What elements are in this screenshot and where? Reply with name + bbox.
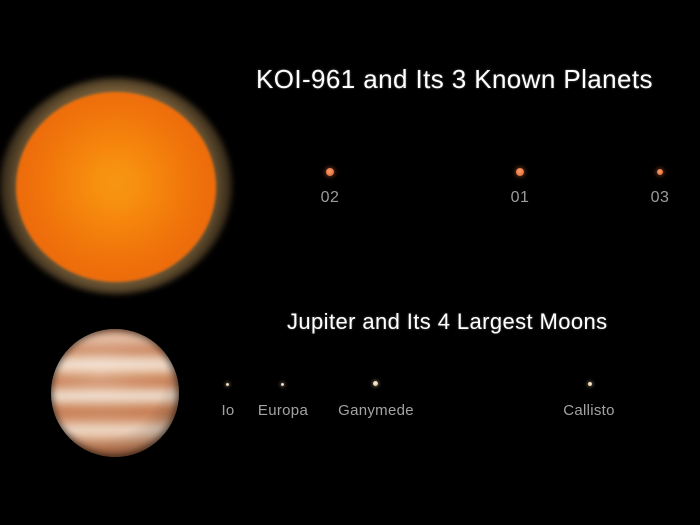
planet-dot-01: [516, 168, 524, 176]
moon-dot-ganymede: [373, 381, 378, 386]
figure-canvas: KOI-961 and Its 3 Known Planets 02 01 03…: [0, 0, 700, 525]
jupiter-section-title: Jupiter and Its 4 Largest Moons: [287, 309, 608, 335]
planet-label-03: 03: [651, 189, 670, 207]
moon-label-ganymede: Ganymede: [338, 402, 414, 419]
moon-dot-io: [226, 383, 229, 386]
planet-label-02: 02: [321, 189, 340, 207]
planet-label-01: 01: [511, 189, 530, 207]
moon-label-callisto: Callisto: [563, 402, 615, 419]
planet-dot-03: [657, 169, 663, 175]
planet-dot-02: [326, 168, 334, 176]
star-disc: [16, 92, 216, 282]
star-section-title: KOI-961 and Its 3 Known Planets: [256, 64, 653, 95]
moon-dot-europa: [281, 383, 284, 386]
moon-dot-callisto: [588, 382, 592, 386]
jupiter-planet: [51, 329, 179, 457]
koi-961-star: [0, 78, 232, 294]
moon-label-europa: Europa: [258, 402, 308, 419]
moon-label-io: Io: [221, 402, 234, 419]
jupiter-limb-darkening: [50, 328, 180, 458]
